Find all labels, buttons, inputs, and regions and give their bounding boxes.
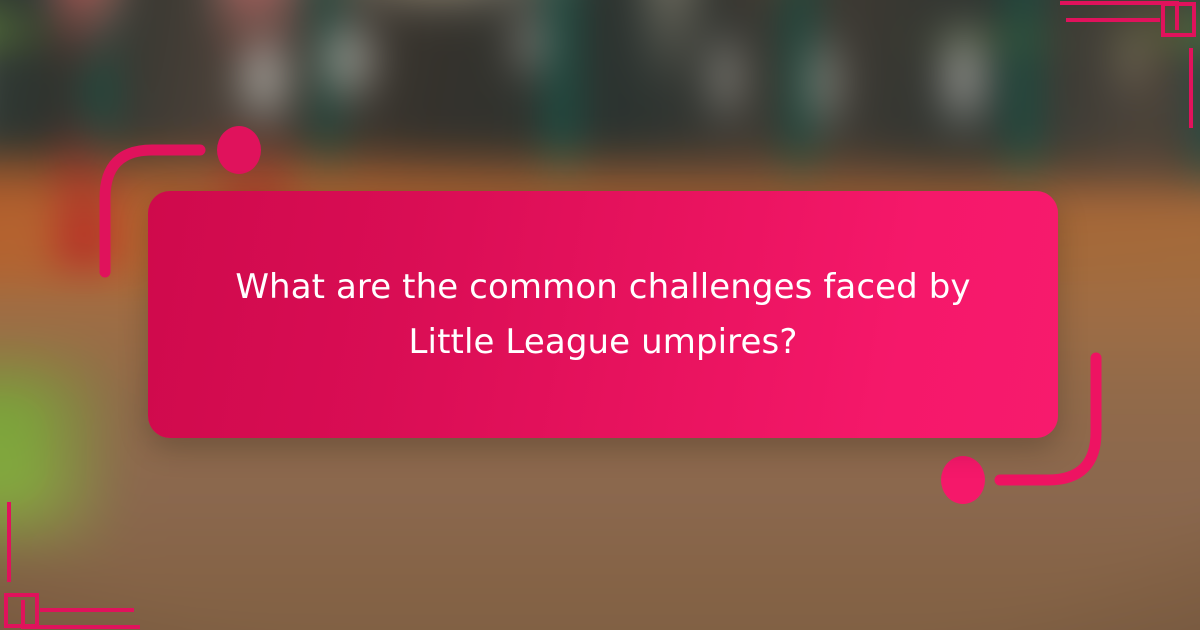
question-card[interactable]: What are the common challenges faced by … [148, 191, 1058, 438]
share-card-canvas: What are the common challenges faced by … [0, 0, 1200, 630]
question-title: What are the common challenges faced by … [204, 260, 1002, 369]
